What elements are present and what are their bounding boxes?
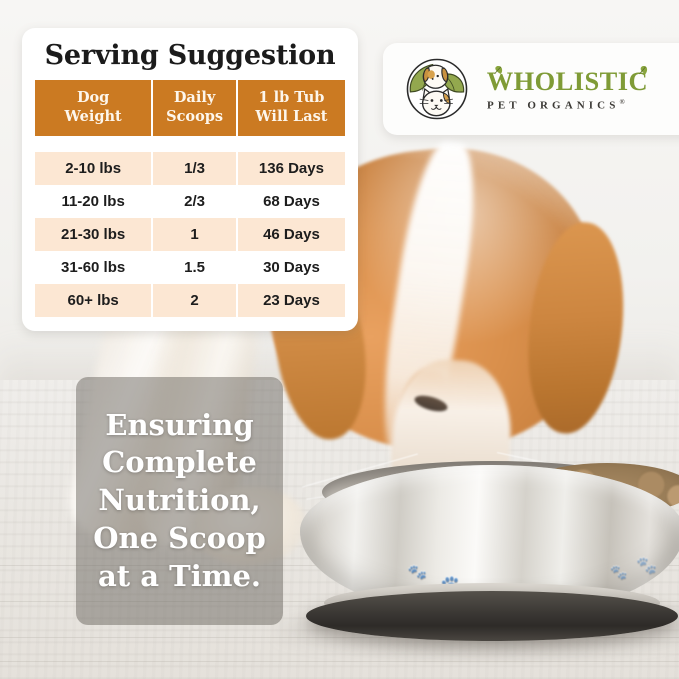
header-line: Scoops: [155, 108, 234, 127]
cell-dog-weight: 2-10 lbs: [35, 152, 151, 185]
spacer-cell: [35, 136, 345, 152]
paw-print-icon: 🐾: [407, 564, 428, 581]
brand-tagline-text: PET ORGANICS: [487, 100, 619, 112]
cell-tub-duration: 136 Days: [238, 152, 345, 185]
registered-trademark-icon: ®: [619, 98, 624, 106]
caption-line: at a Time.: [98, 558, 261, 596]
svg-text:WHOLISTIC: WHOLISTIC: [487, 66, 648, 96]
cell-tub-duration: 46 Days: [238, 218, 345, 251]
serving-suggestion-card: Serving Suggestion Dog Weight Daily Scoo…: [22, 28, 358, 331]
caption-line: One Scoop: [93, 520, 265, 558]
caption-line: Ensuring: [105, 407, 253, 445]
brand-tagline: PET ORGANICS®: [487, 98, 679, 112]
marketing-caption-panel: Ensuring Complete Nutrition, One Scoop a…: [76, 377, 283, 625]
floor-plank-line: [0, 661, 679, 662]
cell-tub-duration: 30 Days: [238, 251, 345, 284]
cell-daily-scoops: 1: [153, 218, 236, 251]
brand-logo-card: WHOLISTIC PET ORGANICS®: [383, 43, 679, 135]
cell-daily-scoops: 2/3: [153, 185, 236, 218]
header-line: Weight: [37, 108, 149, 127]
cell-dog-weight: 11-20 lbs: [35, 185, 151, 218]
cell-tub-duration: 23 Days: [238, 284, 345, 317]
header-line: Will Last: [240, 108, 343, 127]
paw-print-icon: 🐾: [610, 565, 627, 579]
table-header-row: Dog Weight Daily Scoops 1 lb Tub Will La…: [35, 80, 345, 136]
cell-dog-weight: 60+ lbs: [35, 284, 151, 317]
cell-daily-scoops: 1.5: [153, 251, 236, 284]
table-header-gap: [35, 136, 345, 152]
table-row: 21-30 lbs 1 46 Days: [35, 218, 345, 251]
table-row: 2-10 lbs 1/3 136 Days: [35, 152, 345, 185]
header-line: 1 lb Tub: [240, 89, 343, 108]
page-title: Serving Suggestion: [33, 40, 347, 71]
caption-line: Complete: [102, 444, 257, 482]
serving-suggestion-table: Dog Weight Daily Scoops 1 lb Tub Will La…: [33, 80, 347, 317]
cell-tub-duration: 68 Days: [238, 185, 345, 218]
column-header-tub-duration: 1 lb Tub Will Last: [238, 80, 345, 136]
bowl-rubber-base-ring: [306, 591, 678, 641]
caption-line: Nutrition,: [98, 482, 260, 520]
cell-daily-scoops: 2: [153, 284, 236, 317]
column-header-daily-scoops: Daily Scoops: [153, 80, 236, 136]
header-line: Dog: [37, 89, 149, 108]
steel-bowl: 🐾 🐾 🐾 🐾: [300, 465, 679, 641]
brand-wordmark: WHOLISTIC PET ORGANICS®: [485, 66, 679, 112]
column-header-dog-weight: Dog Weight: [35, 80, 151, 136]
table-row: 31-60 lbs 1.5 30 Days: [35, 251, 345, 284]
cell-dog-weight: 21-30 lbs: [35, 218, 151, 251]
table-row: 11-20 lbs 2/3 68 Days: [35, 185, 345, 218]
table-row: 60+ lbs 2 23 Days: [35, 284, 345, 317]
brand-name-text: WHOLISTIC: [485, 66, 679, 96]
header-line: Daily: [155, 89, 234, 108]
cell-dog-weight: 31-60 lbs: [35, 251, 151, 284]
paw-print-icon: 🐾: [636, 557, 657, 574]
cell-daily-scoops: 1/3: [153, 152, 236, 185]
dog-and-cat-circle-emblem-icon: [401, 53, 473, 125]
